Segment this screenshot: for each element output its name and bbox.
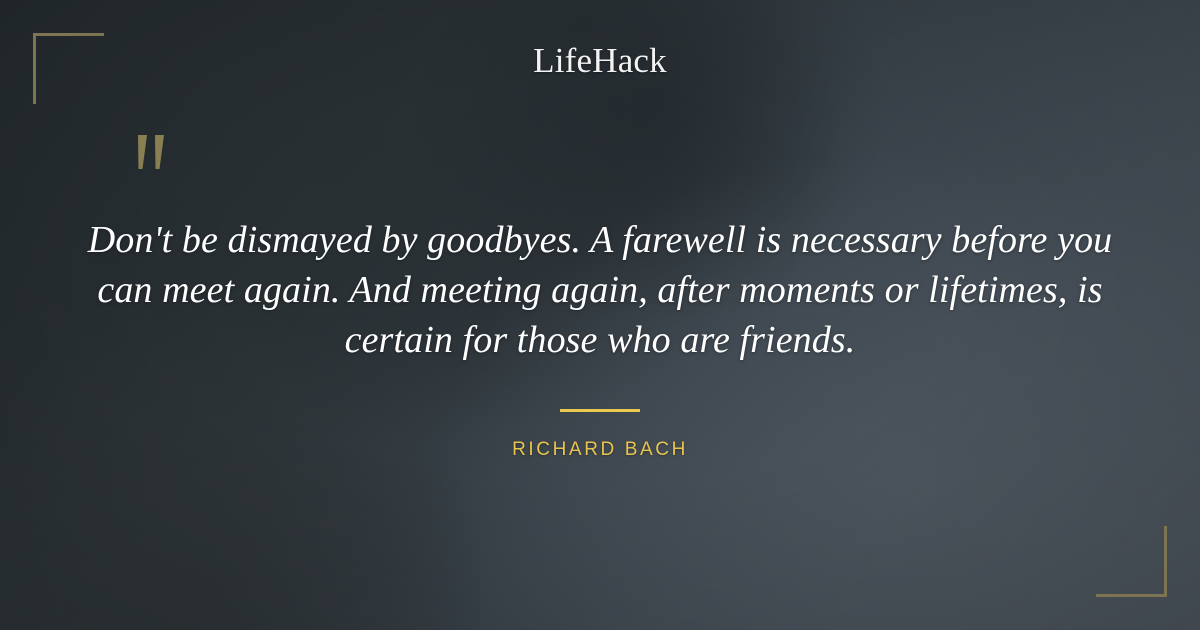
brand-logo: LifeHack — [0, 40, 1200, 82]
double-quote-icon — [128, 129, 188, 189]
gold-divider — [560, 409, 640, 412]
quote-card: LifeHack Don't be dismayed by goodbyes. … — [0, 0, 1200, 630]
card-content: LifeHack Don't be dismayed by goodbyes. … — [0, 0, 1200, 630]
quote-author: RICHARD BACH — [0, 439, 1200, 461]
quote-body-text: Don't be dismayed by goodbyes. A farewel… — [60, 215, 1140, 365]
